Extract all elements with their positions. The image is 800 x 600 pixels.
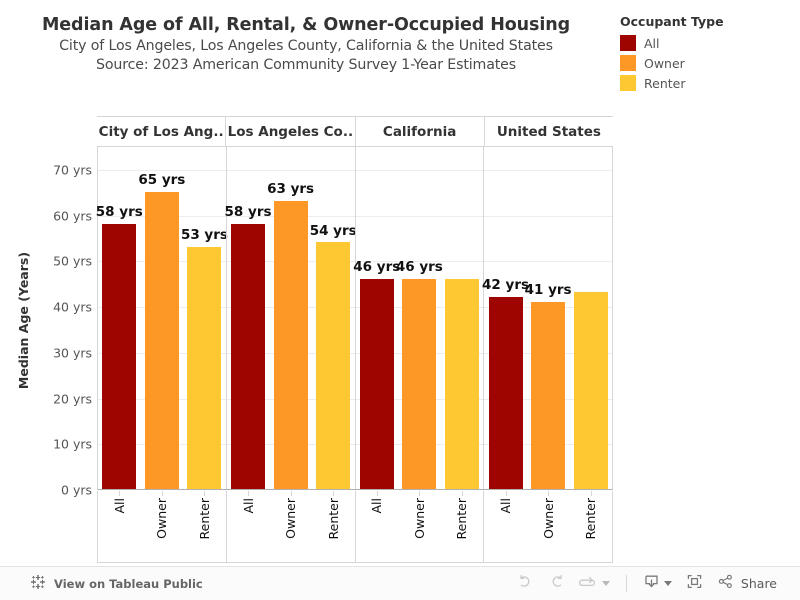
panel-2: 58 yrs63 yrs54 yrs	[226, 147, 355, 489]
plot-area: 58 yrs65 yrs53 yrs58 yrs63 yrs54 yrs46 y…	[97, 147, 613, 490]
legend-items: AllOwnerRenter	[620, 33, 796, 93]
bar-value-label: 58 yrs	[225, 206, 272, 220]
legend-item-renter[interactable]: Renter	[620, 73, 796, 93]
fullscreen-button[interactable]	[679, 572, 710, 596]
panel-3: 46 yrs46 yrs	[355, 147, 484, 489]
panel-header-2[interactable]: Los Angeles Co..	[225, 117, 354, 146]
panel-header-row: City of Los Ang..Los Angeles Co..Califor…	[97, 116, 613, 147]
x-axis-tick-owner[interactable]: Owner	[269, 491, 312, 562]
x-axis-tick-all[interactable]: All	[484, 491, 527, 562]
view-on-tableau-public-label: View on Tableau Public	[54, 577, 203, 591]
y-axis-tick-50: 50 yrs	[53, 254, 92, 269]
x-axis-tickmark	[419, 491, 420, 496]
toolbar-divider	[626, 575, 627, 592]
x-axis-tick-label: All	[498, 498, 513, 514]
revert-loop-icon	[579, 574, 598, 593]
x-axis-panel-2: AllOwnerRenter	[226, 491, 355, 562]
x-axis-tickmark	[291, 491, 292, 496]
legend-item-label: All	[644, 36, 660, 51]
x-axis-tick-all[interactable]: All	[98, 491, 141, 562]
bar-slot: 46 yrs	[398, 147, 441, 489]
x-axis-tick-owner[interactable]: Owner	[398, 491, 441, 562]
panel-4: 42 yrs41 yrs	[483, 147, 612, 489]
bar-value-label: 65 yrs	[138, 174, 185, 188]
y-axis-title: Median Age (Years)	[14, 150, 34, 490]
y-axis-tick-10: 10 yrs	[53, 437, 92, 452]
x-axis-tickmark	[377, 491, 378, 496]
bar-losangelesco-owner[interactable]	[274, 201, 308, 489]
undo-button[interactable]	[510, 572, 541, 596]
panel-1: 58 yrs65 yrs53 yrs	[98, 147, 226, 489]
x-axis-tick-all[interactable]: All	[356, 491, 399, 562]
bar-slot: 46 yrs	[356, 147, 399, 489]
chart-subtitle: City of Los Angeles, Los Angeles County,…	[0, 37, 612, 56]
page-title: Median Age of All, Rental, & Owner-Occup…	[0, 14, 612, 37]
bar-slot: 65 yrs	[141, 147, 184, 489]
x-axis-panel-3: AllOwnerRenter	[355, 491, 484, 562]
y-axis-title-text: Median Age (Years)	[17, 251, 32, 388]
redo-button[interactable]	[541, 572, 572, 596]
bar-slot: 41 yrs	[527, 147, 570, 489]
x-axis-tick-renter[interactable]: Renter	[569, 491, 612, 562]
legend-swatch-icon	[620, 75, 636, 91]
bar-value-label: 46 yrs	[353, 261, 400, 275]
view-on-tableau-public-link[interactable]: View on Tableau Public	[30, 574, 203, 594]
y-axis-tick-70: 70 yrs	[53, 162, 92, 177]
x-axis-tickmark	[204, 491, 205, 496]
x-axis-tick-label: Owner	[541, 498, 556, 539]
share-nodes-icon	[717, 573, 734, 594]
bar-slot: 42 yrs	[484, 147, 527, 489]
x-axis-tickmark	[462, 491, 463, 496]
reset-dropdown-caret-icon[interactable]	[602, 581, 610, 586]
tableau-logo-icon	[30, 574, 46, 594]
redo-arrow-icon	[548, 573, 565, 594]
bar-california-owner[interactable]	[402, 279, 436, 489]
y-axis-tick-30: 30 yrs	[53, 345, 92, 360]
fullscreen-icon	[686, 573, 703, 594]
bar-value-label: 42 yrs	[482, 279, 529, 293]
bar-california-renter[interactable]	[445, 279, 479, 489]
bar-cityoflosang-all[interactable]	[102, 224, 136, 489]
x-axis-tick-renter[interactable]: Renter	[312, 491, 355, 562]
bar-california-all[interactable]	[360, 279, 394, 489]
x-axis-tickmark	[333, 491, 334, 496]
bar-slot	[441, 147, 484, 489]
y-axis-tick-40: 40 yrs	[53, 300, 92, 315]
bar-losangelesco-all[interactable]	[231, 224, 265, 489]
panel-header-4[interactable]: United States	[484, 117, 613, 146]
x-axis-tick-label: All	[241, 498, 256, 514]
x-axis-tick-all[interactable]: All	[227, 491, 270, 562]
bar-value-label: 53 yrs	[181, 229, 228, 243]
y-axis-tick-0: 0 yrs	[61, 483, 92, 498]
bar-value-label: 41 yrs	[525, 284, 572, 298]
x-axis-panel-4: AllOwnerRenter	[483, 491, 612, 562]
title-block: Median Age of All, Rental, & Owner-Occup…	[0, 14, 612, 76]
x-axis-tick-renter[interactable]: Renter	[183, 491, 226, 562]
x-axis-tick-label: Renter	[197, 498, 212, 539]
x-axis-tick-label: Renter	[454, 498, 469, 539]
download-button[interactable]	[636, 572, 679, 596]
x-axis-tickmark	[162, 491, 163, 496]
undo-arrow-icon	[517, 573, 534, 594]
x-axis-tickmark	[591, 491, 592, 496]
reset-button[interactable]	[572, 572, 617, 596]
x-axis-panel-1: AllOwnerRenter	[98, 491, 226, 562]
toolbar-actions: Share	[510, 572, 784, 596]
x-axis-tick-renter[interactable]: Renter	[441, 491, 484, 562]
x-axis-tick-label: All	[369, 498, 384, 514]
share-button[interactable]: Share	[710, 572, 784, 596]
bar-panels: 58 yrs65 yrs53 yrs58 yrs63 yrs54 yrs46 y…	[98, 147, 612, 489]
legend-item-all[interactable]: All	[620, 33, 796, 53]
bar-unitedstates-all[interactable]	[489, 297, 523, 489]
bar-cityoflosang-renter[interactable]	[187, 247, 221, 489]
x-axis-tick-label: Renter	[583, 498, 598, 539]
y-axis-tick-20: 20 yrs	[53, 391, 92, 406]
x-axis-tick-owner[interactable]: Owner	[527, 491, 570, 562]
bar-unitedstates-renter[interactable]	[574, 292, 608, 489]
y-axis-tick-60: 60 yrs	[53, 208, 92, 223]
bar-value-label: 54 yrs	[310, 225, 357, 239]
download-dropdown-caret-icon[interactable]	[664, 581, 672, 586]
x-axis-tick-owner[interactable]: Owner	[141, 491, 184, 562]
x-axis-tickmark	[548, 491, 549, 496]
legend-item-owner[interactable]: Owner	[620, 53, 796, 73]
legend: Occupant Type AllOwnerRenter	[620, 14, 796, 93]
x-axis-tick-label: Owner	[412, 498, 427, 539]
x-axis-tickmark	[248, 491, 249, 496]
x-axis-tick-label: Owner	[283, 498, 298, 539]
panel-header-1[interactable]: City of Los Ang..	[97, 117, 225, 146]
panel-header-3[interactable]: California	[355, 117, 484, 146]
legend-item-label: Renter	[644, 76, 685, 91]
x-axis-tickmark	[119, 491, 120, 496]
bar-unitedstates-owner[interactable]	[531, 302, 565, 490]
y-axis-tick-labels: 0 yrs10 yrs20 yrs30 yrs40 yrs50 yrs60 yr…	[36, 147, 92, 497]
x-axis-tick-label: Owner	[154, 498, 169, 539]
download-icon	[643, 573, 660, 594]
bar-slot: 53 yrs	[183, 147, 226, 489]
legend-title: Occupant Type	[620, 14, 796, 29]
tableau-viz: Median Age of All, Rental, & Owner-Occup…	[0, 0, 800, 566]
x-axis-tickmark	[506, 491, 507, 496]
share-label: Share	[741, 576, 777, 591]
bar-slot: 58 yrs	[227, 147, 270, 489]
legend-swatch-icon	[620, 35, 636, 51]
chart-source-note: Source: 2023 American Community Survey 1…	[0, 56, 612, 75]
x-axis: AllOwnerRenterAllOwnerRenterAllOwnerRent…	[97, 491, 613, 563]
bottom-toolbar: View on Tableau Public	[0, 566, 800, 600]
bar-slot: 63 yrs	[269, 147, 312, 489]
bar-losangelesco-renter[interactable]	[316, 242, 350, 489]
legend-swatch-icon	[620, 55, 636, 71]
bar-value-label: 63 yrs	[267, 183, 314, 197]
bar-value-label: 46 yrs	[396, 261, 443, 275]
bar-value-label: 58 yrs	[96, 206, 143, 220]
bar-slot: 58 yrs	[98, 147, 141, 489]
legend-item-label: Owner	[644, 56, 685, 71]
bar-slot	[569, 147, 612, 489]
x-axis-tick-label: Renter	[326, 498, 341, 539]
bar-cityoflosang-owner[interactable]	[145, 192, 179, 489]
x-axis-tick-label: All	[112, 498, 127, 514]
bar-slot: 54 yrs	[312, 147, 355, 489]
